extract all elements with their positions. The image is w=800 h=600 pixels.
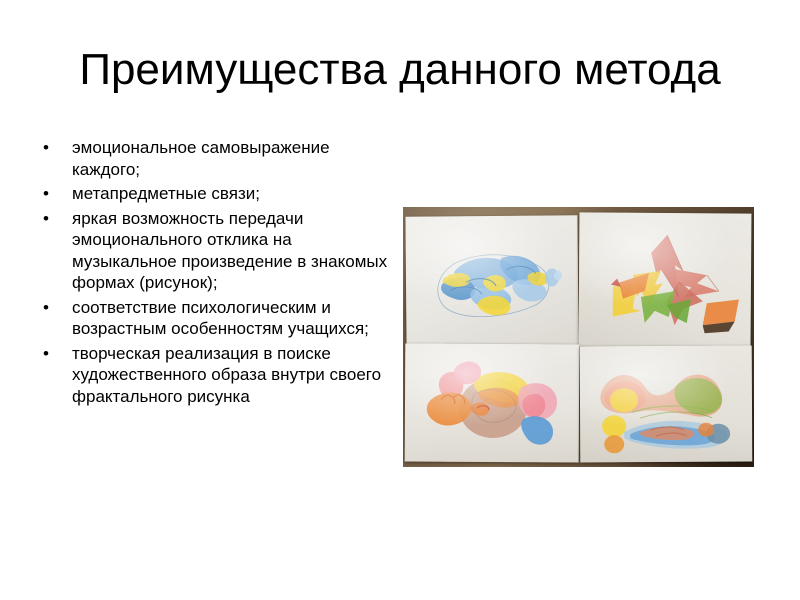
drawing-sheet-bottom-left: [405, 344, 580, 463]
list-item-text: яркая возможность передачи эмоциональног…: [72, 208, 400, 294]
bullet-point-icon: •: [43, 183, 49, 205]
photo-of-student-fractal-drawings: [403, 207, 754, 467]
list-item: • метапредметные связи;: [36, 183, 400, 205]
bullet-list: • эмоциональное самовыражение каждого; •…: [36, 137, 400, 410]
list-item-text: метапредметные связи;: [72, 183, 400, 205]
drawing-bottom-left-artwork: [405, 344, 580, 463]
list-item: • соответствие психологическим и возраст…: [36, 297, 400, 340]
bullet-point-icon: •: [43, 297, 49, 319]
drawing-bottom-right-artwork: [580, 346, 753, 463]
presentation-slide: Преимущества данного метода • эмоциональ…: [0, 0, 800, 600]
drawing-top-left-artwork: [405, 215, 578, 346]
drawing-top-right-artwork: [579, 212, 752, 347]
list-item-text: соответствие психологическим и возрастны…: [72, 297, 400, 340]
bullet-point-icon: •: [43, 137, 49, 159]
list-item: • яркая возможность передачи эмоциональн…: [36, 208, 400, 294]
drawing-sheet-bottom-right: [580, 346, 753, 463]
drawing-sheet-top-left: [405, 215, 578, 346]
slide-title: Преимущества данного метода: [40, 44, 760, 96]
list-item-text: эмоциональное самовыражение каждого;: [72, 137, 400, 180]
bullet-point-icon: •: [43, 208, 49, 230]
drawing-sheet-top-right: [579, 212, 752, 347]
list-item: • эмоциональное самовыражение каждого;: [36, 137, 400, 180]
list-item-text: творческая реализация в поиске художеств…: [72, 343, 400, 408]
list-item: • творческая реализация в поиске художес…: [36, 343, 400, 408]
bullet-point-icon: •: [43, 343, 49, 365]
